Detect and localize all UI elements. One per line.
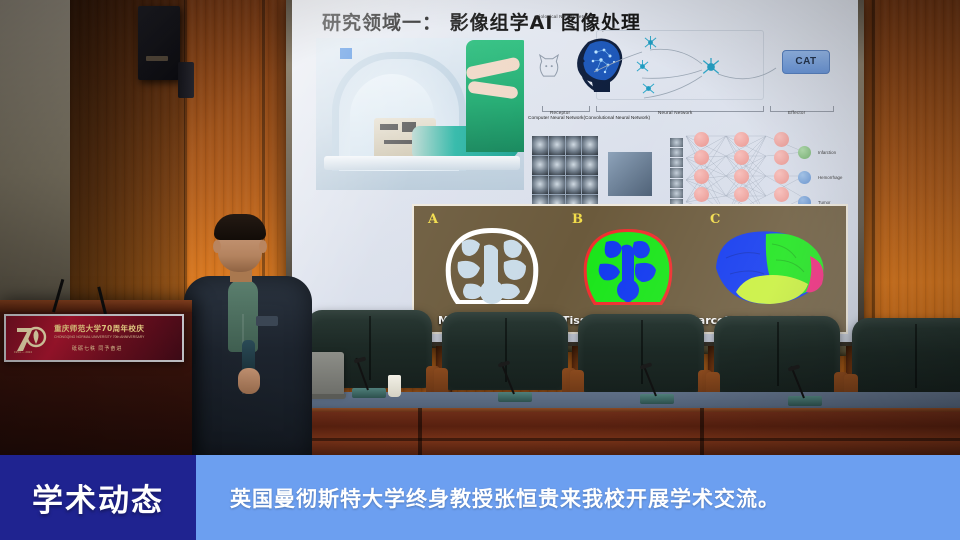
anniversary-banner-title: 重庆师范大学70周年校庆 — [54, 323, 144, 334]
output-label-infarction: Infarction — [818, 150, 836, 155]
presenter-hand — [238, 368, 260, 394]
brace-label-receptor: Receptor — [550, 110, 570, 115]
table-microphone — [352, 358, 392, 398]
anniversary-banner-years: 1954 — 2024 — [14, 350, 32, 354]
jacket-pocket — [256, 316, 278, 326]
brace-label-effector: Effector — [788, 110, 805, 115]
table-microphone — [498, 362, 538, 402]
mri-scanner-photo — [316, 38, 524, 190]
output-node-infarction — [798, 146, 811, 159]
lower-third-banner: 学术动态 英国曼彻斯特大学终身教授张恒贵来我校开展学术交流。 — [0, 455, 960, 540]
table-microphone — [640, 364, 680, 404]
mic-neck — [642, 364, 657, 396]
output-node-hemorrhage — [798, 171, 811, 184]
table-seam — [700, 408, 704, 460]
chair-back — [852, 318, 960, 396]
lower-third-headline-wrap: 英国曼彻斯特大学终身教授张恒贵来我校开展学术交流。 — [230, 455, 780, 540]
mri-scan-image — [436, 226, 548, 310]
presenter-person — [182, 218, 312, 460]
scanner-table — [324, 156, 520, 170]
tissue-classification-image — [572, 226, 684, 310]
scanner-indicator — [340, 48, 352, 59]
cat-silhouette-icon — [538, 54, 560, 80]
lower-third-headline: 英国曼彻斯特大学终身教授张恒贵来我校开展学术交流。 — [230, 483, 780, 513]
panel-letter-c: C — [710, 212, 720, 227]
anniversary-banner-subtitle: CHONGQING NORMAL UNIVERSITY 70th ANNIVER… — [54, 335, 144, 339]
presenter-ear — [259, 240, 267, 253]
panel-letter-b: B — [572, 212, 583, 227]
table-microphone — [788, 366, 828, 406]
speaker-brand-mark — [146, 56, 168, 61]
biological-neural-network-diagram: Biological Neural Network — [536, 16, 836, 124]
table-seam — [418, 408, 422, 460]
projection-screen: 研究领域一： 影像组学AI 图像处理 Biological Neural Net… — [292, 0, 858, 342]
speaker-mount-bracket — [178, 62, 194, 98]
output-nodes — [798, 146, 811, 209]
lectern-top — [0, 300, 192, 312]
panel-letter-a: A — [428, 212, 438, 227]
parcellation-image — [706, 226, 834, 310]
cnn-heading: Computer Neural Network(Convolutional Ne… — [528, 116, 650, 121]
mic-neck — [790, 366, 805, 398]
output-label-hemorrhage: Hemorrhage — [818, 175, 842, 180]
presenter-ear — [213, 240, 221, 253]
brace-label-neural-network: Neural Network — [658, 110, 692, 115]
lower-third-tag-label: 学术动态 — [32, 475, 164, 520]
anniversary-banner: 重庆师范大学70周年校庆 CHONGQING NORMAL UNIVERSITY… — [4, 314, 184, 362]
input-image-grid — [532, 136, 598, 214]
bnn-heading: Biological Neural Network — [536, 14, 594, 19]
cat-output-button: CAT — [782, 50, 830, 74]
screenshot-stage: 研究领域一： 影像组学AI 图像处理 Biological Neural Net… — [0, 0, 960, 540]
convolution-cube — [608, 152, 652, 196]
wall-speaker-icon — [138, 6, 180, 80]
mic-neck — [500, 362, 515, 394]
bnn-connection-lines — [590, 28, 790, 106]
lower-third-tag: 学术动态 — [0, 455, 196, 540]
anniversary-banner-motto: 砥砺七秩 同予奋进 — [72, 345, 122, 352]
presenter-hair — [214, 214, 266, 240]
